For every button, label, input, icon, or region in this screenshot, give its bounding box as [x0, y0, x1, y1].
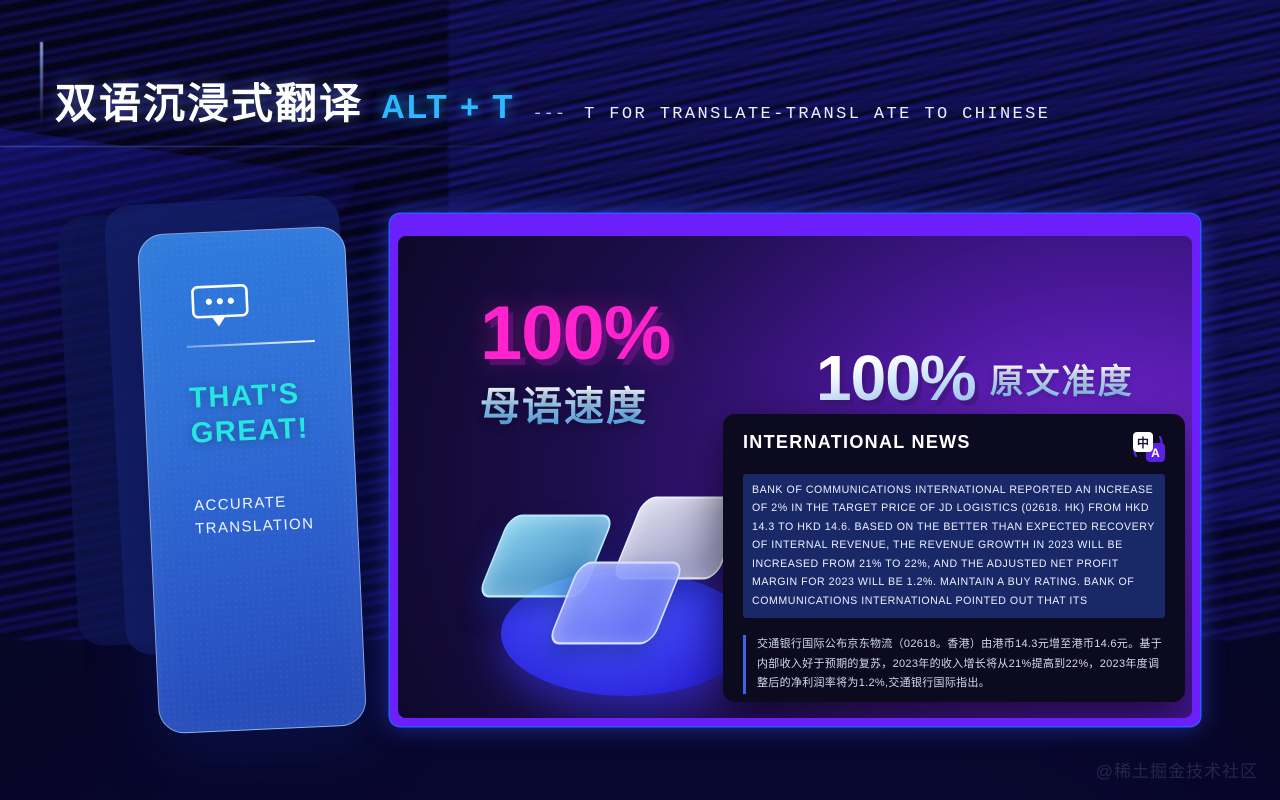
news-card-header: INTERNATIONAL NEWS A 中	[743, 432, 1165, 462]
stat-source-accuracy: 100% 原文准度	[816, 348, 1134, 409]
news-title: INTERNATIONAL NEWS	[743, 432, 971, 453]
stat-value: 100%	[816, 348, 976, 409]
translate-icon-source: 中	[1133, 432, 1153, 452]
stat-label: 母语速度	[480, 374, 670, 432]
left-accent-bar	[40, 42, 43, 124]
news-chinese-translation: 交通银行国际公布京东物流（02618。香港）由港币14.3元增至港币14.6元。…	[743, 635, 1165, 694]
header: 双语沉浸式翻译 ALT + T --- T FOR TRANSLATE-TRAN…	[55, 70, 1050, 131]
header-subtitle: T FOR TRANSLATE-TRANSL ATE TO CHINESE	[584, 105, 1050, 124]
phone-mockup: THAT'S GREAT! ACCURATE TRANSLATION	[60, 200, 390, 740]
translate-icon[interactable]: A 中	[1131, 432, 1165, 462]
phone-dot-texture	[138, 227, 366, 734]
header-dash: ---	[532, 105, 566, 124]
stat-native-speed: 100% 母语速度	[480, 298, 670, 432]
shortcut-label: ALT + T	[381, 88, 514, 126]
stat-label: 原文准度	[990, 354, 1134, 409]
stat-value: 100%	[480, 298, 670, 370]
phone-divider	[187, 340, 315, 347]
watermark: @稀土掘金技术社区	[1096, 757, 1258, 782]
showcase-panel-inner: 100% 母语速度 100% 原文准度 INTERNATIONAL NEWS	[398, 236, 1192, 718]
phone-card: THAT'S GREAT! ACCURATE TRANSLATION	[137, 226, 367, 735]
news-card: INTERNATIONAL NEWS A 中 BANK OF COMMUNICA…	[723, 414, 1185, 702]
chat-bubble-icon	[190, 283, 250, 335]
news-english-text: BANK OF COMMUNICATIONS INTERNATIONAL REP…	[752, 481, 1156, 610]
news-chinese-text: 交通银行国际公布京东物流（02618。香港）由港币14.3元增至港币14.6元。…	[757, 635, 1165, 694]
showcase-panel: 100% 母语速度 100% 原文准度 INTERNATIONAL NEWS	[390, 214, 1200, 726]
phone-headline: THAT'S GREAT!	[188, 375, 341, 452]
horizon-line	[0, 146, 640, 147]
phone-subtext: ACCURATE TRANSLATION	[194, 489, 351, 541]
page-title: 双语沉浸式翻译	[55, 70, 363, 131]
news-english-highlight[interactable]: BANK OF COMMUNICATIONS INTERNATIONAL REP…	[743, 474, 1165, 618]
